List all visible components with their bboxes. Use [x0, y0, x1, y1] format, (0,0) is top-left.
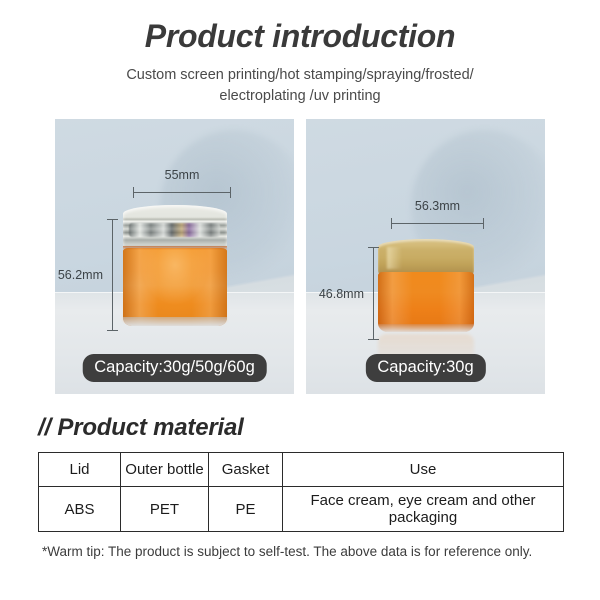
page-subtitle: Custom screen printing/hot stamping/spra… [0, 65, 600, 107]
height-dimension-line [112, 219, 113, 331]
width-dimension-2: 56.3mm [391, 216, 484, 230]
height-dimension-line [373, 247, 374, 340]
height-dimension-1: 56.2mm [105, 219, 119, 331]
capacity-badge-1: Capacity:30g/50g/60g [82, 354, 267, 382]
table-row: ABS PET PE Face cream, eye cream and oth… [39, 487, 564, 532]
cell-outer-bottle-value: PET [121, 487, 209, 532]
height-dimension-2: 46.8mm [366, 247, 380, 340]
column-header-outer-bottle: Outer bottle [121, 453, 209, 487]
product-panel-2: 56.3mm 46.8mm Capacity:30g [306, 119, 545, 394]
page-title: Product introduction [0, 16, 600, 56]
product-panel-1: 55mm 56.2mm Capacity:30g/50g/60g [55, 119, 294, 394]
width-dimension-label: 55mm [165, 168, 200, 182]
subtitle-line-1: Custom screen printing/hot stamping/spra… [95, 65, 505, 86]
height-dimension-label: 56.2mm [58, 268, 103, 282]
warm-tip-note: *Warm tip: The product is subject to sel… [42, 544, 600, 559]
cell-gasket-value: PE [209, 487, 283, 532]
height-dimension-label: 46.8mm [319, 287, 364, 301]
jar-lid-gold [378, 239, 474, 275]
material-table: Lid Outer bottle Gasket Use ABS PET PE F… [38, 452, 564, 532]
width-dimension-line [391, 223, 484, 224]
jar-body-orange [378, 272, 474, 332]
capacity-badge-2: Capacity:30g [365, 354, 485, 382]
width-dimension-label: 56.3mm [415, 199, 460, 213]
subtitle-line-2: electroplating /uv printing [95, 86, 505, 107]
product-image-panels: 55mm 56.2mm Capacity:30g/50g/60g 56.3mm … [55, 119, 545, 394]
jar-lid-chrome [123, 205, 227, 251]
column-header-gasket: Gasket [209, 453, 283, 487]
table-header-row: Lid Outer bottle Gasket Use [39, 453, 564, 487]
material-section-heading: // Product material [38, 414, 600, 442]
column-header-lid: Lid [39, 453, 121, 487]
product-jar-gold-lid [378, 239, 474, 332]
jar-body-orange [123, 248, 227, 326]
width-dimension-1: 55mm [133, 185, 231, 199]
width-dimension-line [133, 192, 231, 193]
product-jar-chrome-lid [123, 205, 227, 326]
cell-use-value: Face cream, eye cream and other packagin… [283, 487, 564, 532]
column-header-use: Use [283, 453, 564, 487]
page-header: Product introduction Custom screen print… [0, 0, 600, 107]
cell-lid-value: ABS [39, 487, 121, 532]
